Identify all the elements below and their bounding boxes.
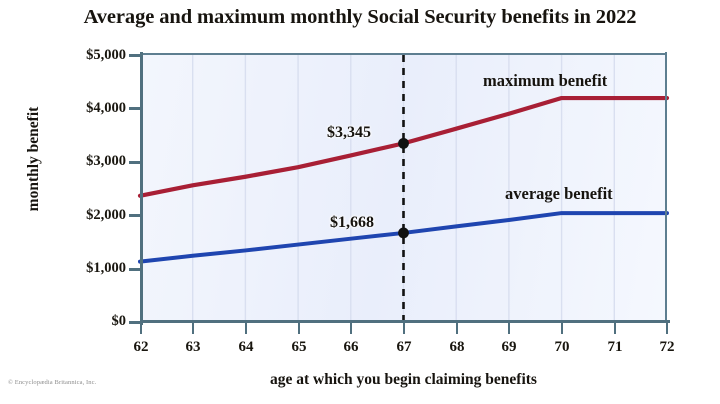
maximum-benefit-value: $3,345: [327, 124, 371, 142]
chart-figure: Average and maximum monthly Social Secur…: [0, 0, 720, 404]
x-tick-label: 70: [542, 339, 582, 356]
x-tick-mark: [140, 323, 142, 334]
x-tick-label: 69: [489, 339, 529, 356]
y-tick-label: $1,000: [48, 260, 126, 277]
y-tick-label: $0: [48, 313, 126, 330]
x-tick-mark: [245, 323, 247, 334]
maximum-benefit-label: maximum benefit: [483, 71, 607, 91]
x-tick-label: 68: [437, 339, 477, 356]
y-tick-label: $5,000: [48, 47, 126, 64]
plot-top-border: [140, 53, 667, 55]
x-tick-mark: [666, 323, 668, 334]
x-tick-label: 63: [173, 339, 213, 356]
x-axis-title: age at which you begin claiming benefits: [140, 371, 667, 389]
x-tick-label: 72: [647, 339, 687, 356]
x-tick-label: 71: [595, 339, 635, 356]
y-tick-label: $3,000: [48, 153, 126, 170]
y-tick-label: $2,000: [48, 207, 126, 224]
page-title: Average and maximum monthly Social Secur…: [0, 6, 720, 29]
x-tick-label: 62: [121, 339, 161, 356]
average-benefit-label: average benefit: [505, 184, 613, 204]
maximum-benefit-marker: [398, 138, 409, 149]
x-tick-label: 64: [226, 339, 266, 356]
x-tick-mark: [350, 323, 352, 334]
average-benefit-marker: [398, 228, 409, 239]
x-axis: [140, 320, 670, 323]
x-tick-label: 67: [384, 339, 424, 356]
x-tick-mark: [508, 323, 510, 334]
copyright-credit: © Encyclopædia Britannica, Inc.: [8, 379, 96, 386]
x-tick-mark: [456, 323, 458, 334]
x-tick-mark: [192, 323, 194, 334]
y-axis-title: monthly benefit: [25, 79, 43, 239]
x-tick-mark: [298, 323, 300, 334]
y-tick-label: $4,000: [48, 100, 126, 117]
average-benefit-value: $1,668: [330, 214, 374, 232]
plot-area: maximum benefit average benefit $3,345 $…: [140, 55, 667, 322]
x-tick-mark: [561, 323, 563, 334]
plot-right-border: [665, 52, 667, 323]
x-tick-label: 66: [331, 339, 371, 356]
x-tick-mark: [403, 323, 405, 334]
x-tick-mark: [614, 323, 616, 334]
y-axis: [140, 52, 143, 325]
x-tick-label: 65: [279, 339, 319, 356]
